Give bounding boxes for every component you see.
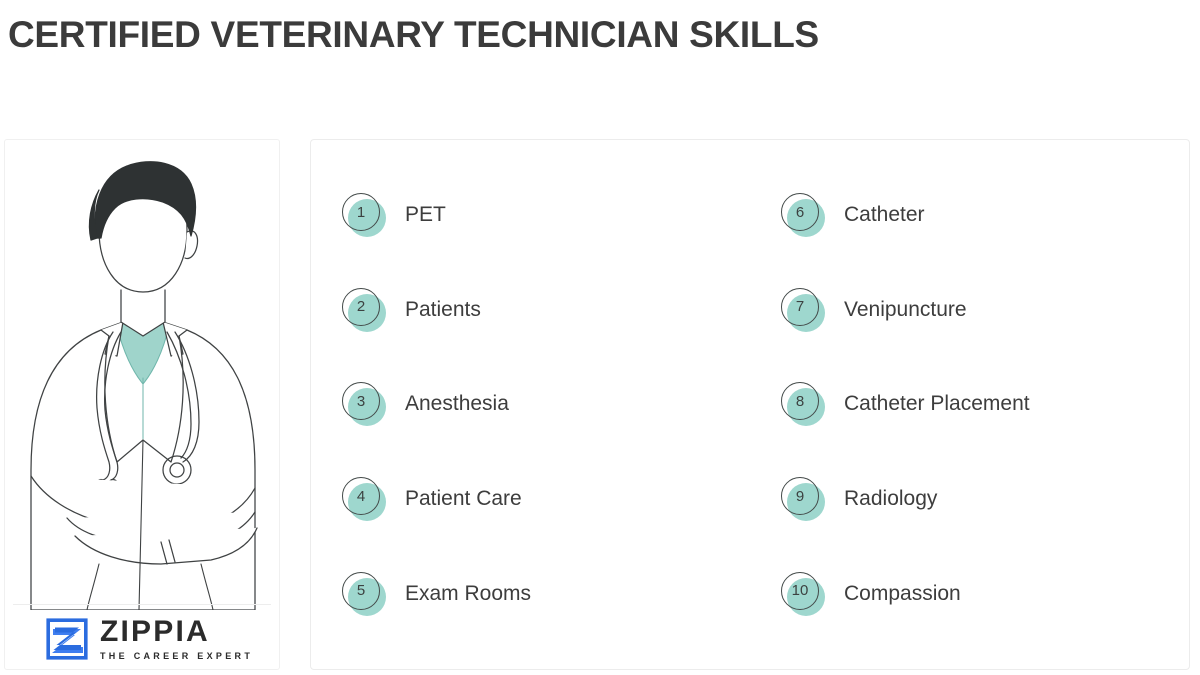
zippia-tagline: THE CAREER EXPERT bbox=[100, 652, 253, 661]
skill-item-3[interactable]: 3 Anesthesia bbox=[311, 357, 750, 452]
skill-label: Anesthesia bbox=[405, 392, 509, 416]
skill-label: Venipuncture bbox=[844, 298, 967, 322]
zippia-logo[interactable]: ZIPPIA THE CAREER EXPERT bbox=[45, 617, 253, 661]
skill-label: Catheter Placement bbox=[844, 392, 1030, 416]
skill-number-badge: 4 bbox=[341, 476, 387, 522]
badge-number: 2 bbox=[342, 288, 380, 326]
skill-number-badge: 6 bbox=[780, 192, 826, 238]
badge-number: 9 bbox=[781, 477, 819, 515]
badge-number: 10 bbox=[781, 572, 819, 610]
badge-number: 7 bbox=[781, 288, 819, 326]
skill-label: Patient Care bbox=[405, 487, 522, 511]
skill-number-badge: 10 bbox=[780, 571, 826, 617]
veterinarian-illustration bbox=[5, 140, 280, 610]
skill-number-badge: 2 bbox=[341, 287, 387, 333]
skill-number-badge: 8 bbox=[780, 381, 826, 427]
skill-item-10[interactable]: 10 Compassion bbox=[750, 546, 1189, 641]
skill-number-badge: 5 bbox=[341, 571, 387, 617]
skill-item-1[interactable]: 1 PET bbox=[311, 168, 750, 263]
page-title: CERTIFIED VETERINARY TECHNICIAN SKILLS bbox=[8, 14, 819, 56]
skill-label: Compassion bbox=[844, 582, 961, 606]
skills-panel: 1 PET 2 Patients 3 Anesthesia bbox=[310, 139, 1190, 670]
badge-number: 4 bbox=[342, 477, 380, 515]
skill-number-badge: 1 bbox=[341, 192, 387, 238]
skill-label: Patients bbox=[405, 298, 481, 322]
badge-number: 3 bbox=[342, 382, 380, 420]
illustration-panel: ZIPPIA THE CAREER EXPERT bbox=[4, 139, 280, 670]
skill-item-7[interactable]: 7 Venipuncture bbox=[750, 263, 1189, 358]
zippia-z-mark-icon bbox=[45, 617, 89, 661]
badge-number: 5 bbox=[342, 572, 380, 610]
skill-number-badge: 9 bbox=[780, 476, 826, 522]
skill-item-9[interactable]: 9 Radiology bbox=[750, 452, 1189, 547]
badge-number: 1 bbox=[342, 193, 380, 231]
skills-list: 1 PET 2 Patients 3 Anesthesia bbox=[311, 140, 1189, 669]
skill-label: Catheter bbox=[844, 203, 925, 227]
skill-item-4[interactable]: 4 Patient Care bbox=[311, 452, 750, 547]
illustration-divider bbox=[13, 604, 271, 605]
badge-number: 6 bbox=[781, 193, 819, 231]
skill-number-badge: 7 bbox=[780, 287, 826, 333]
skill-label: Exam Rooms bbox=[405, 582, 531, 606]
skill-item-6[interactable]: 6 Catheter bbox=[750, 168, 1189, 263]
skill-number-badge: 3 bbox=[341, 381, 387, 427]
skill-item-8[interactable]: 8 Catheter Placement bbox=[750, 357, 1189, 452]
skill-label: PET bbox=[405, 203, 446, 227]
skill-label: Radiology bbox=[844, 487, 937, 511]
skill-item-5[interactable]: 5 Exam Rooms bbox=[311, 546, 750, 641]
zippia-wordmark: ZIPPIA bbox=[100, 617, 210, 647]
zippia-wordmark-group: ZIPPIA THE CAREER EXPERT bbox=[100, 617, 253, 661]
skill-item-2[interactable]: 2 Patients bbox=[311, 263, 750, 358]
badge-number: 8 bbox=[781, 382, 819, 420]
